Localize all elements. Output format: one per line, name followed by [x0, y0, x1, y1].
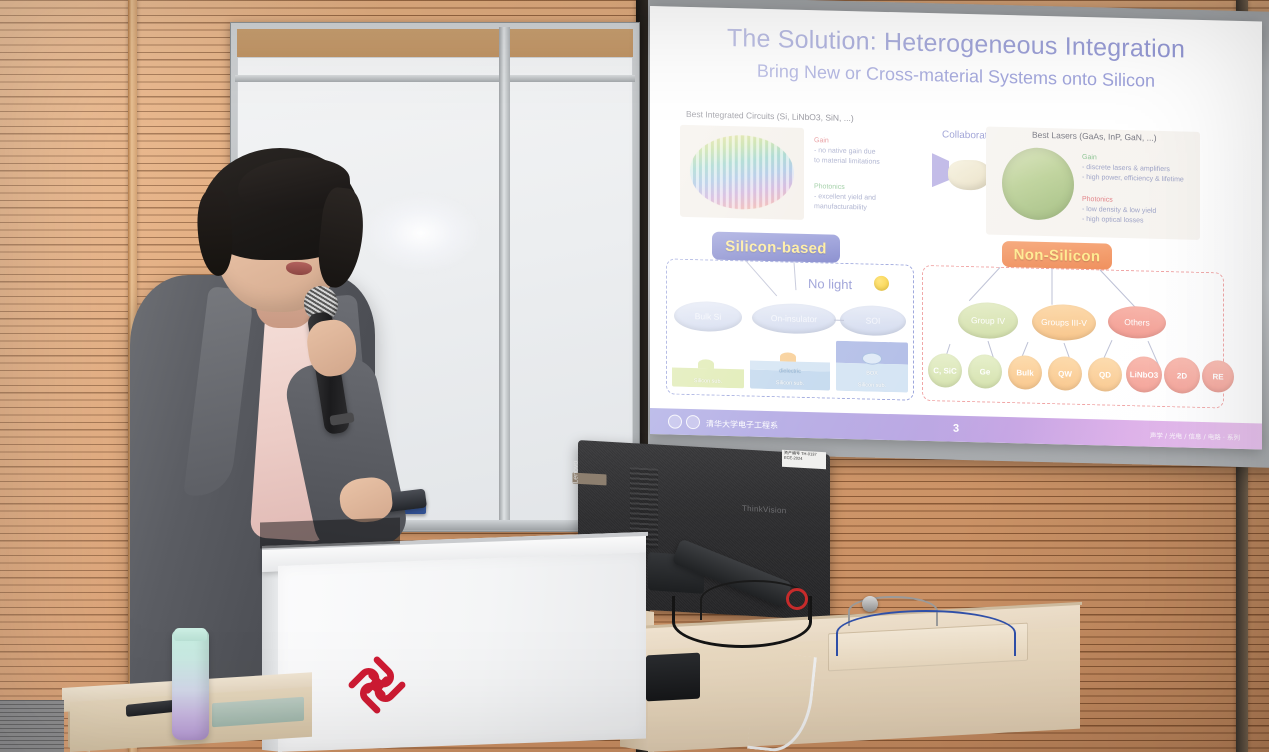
- monitor-brand-lenovo-tag: Lenovo: [573, 473, 607, 486]
- ic-caption: Best Integrated Circuits (Si, LiNbO3, Si…: [686, 109, 854, 123]
- wafer-rainbow-pattern: [690, 134, 794, 210]
- collaborate-arrow-left: [932, 153, 949, 187]
- leaf-ge: Ge: [968, 354, 1002, 389]
- podium-shadow: [260, 518, 400, 549]
- cable-blue: [836, 610, 1016, 656]
- whiteboard-rail-top: [235, 75, 635, 82]
- whiteboard-mullion: [499, 27, 510, 527]
- no-light-note: No light: [808, 276, 852, 292]
- integrated-circuit-wafer-photo: [680, 125, 804, 220]
- wall-speaker-grille: [0, 700, 64, 752]
- diagram-waveguide-bump: [780, 353, 796, 362]
- laser-bullet-gain: Gain - discrete lasers & amplifiers - hi…: [1082, 153, 1184, 186]
- crying-face-emoji: [874, 276, 889, 291]
- ic-bullet-photonics: Photonics - excellent yield and manufact…: [814, 182, 876, 214]
- presentation-photo-scene: The Solution: Heterogeneous Integration …: [0, 0, 1269, 752]
- projected-slide: The Solution: Heterogeneous Integration …: [650, 6, 1262, 449]
- laser-bullet-photonics-line2: - high optical losses: [1082, 215, 1156, 227]
- silicon-based-header: Silicon-based: [712, 232, 840, 263]
- leaf-c-sic: C, SiC: [928, 353, 962, 388]
- ic-bullet-gain: Gain - no native gain due to material li…: [814, 136, 880, 168]
- ic-bullet-gain-line2: to material limitations: [814, 156, 880, 168]
- diagram-bulk-si: Silicon sub.: [672, 345, 744, 389]
- ic-bullet-photonics-line2: manufacturability: [814, 202, 876, 214]
- handshake-icon: [948, 160, 990, 191]
- diagram-on-insulator: dielectric Silicon sub.: [750, 347, 830, 391]
- diagram-waveguide-bump: [698, 359, 714, 368]
- equipment-knob[interactable]: [862, 596, 878, 612]
- leaf-qd: QD: [1088, 357, 1122, 392]
- leaf-2d: 2D: [1164, 357, 1200, 394]
- leaf-qw: QW: [1048, 356, 1082, 391]
- diagram-soi: BOX Silicon sub.: [836, 341, 908, 393]
- podium-front-face: [278, 553, 646, 752]
- connector-line: [834, 320, 844, 321]
- monitor-asset-sticker: 资产编号 TH-0137 ECE-2024: [782, 450, 826, 470]
- leaf-re: RE: [1202, 360, 1234, 393]
- connector-line: [1052, 269, 1053, 305]
- thermos-bottle[interactable]: [172, 630, 209, 740]
- leaf-bulk: Bulk: [1008, 355, 1042, 390]
- leaf-linbo3: LiNbO3: [1126, 356, 1162, 393]
- av-equipment-box: [646, 653, 700, 702]
- thermos-cap[interactable]: [174, 628, 207, 641]
- non-silicon-header: Non-Silicon: [1002, 241, 1112, 270]
- polyu-knot-logo: [340, 648, 414, 722]
- whiteboard-glare: [361, 193, 481, 273]
- laser-wafer-photo: [1002, 147, 1074, 221]
- cable-red-loop: [786, 588, 808, 610]
- diagram-waveguide-ring: [862, 352, 882, 365]
- laser-bullet-photonics: Photonics - low density & low yield - hi…: [1082, 195, 1156, 227]
- footer-right-text: 声学 / 光电 / 信息 / 电路 · 系列: [1150, 430, 1240, 442]
- whiteboard-top-wood-strip: [237, 29, 633, 57]
